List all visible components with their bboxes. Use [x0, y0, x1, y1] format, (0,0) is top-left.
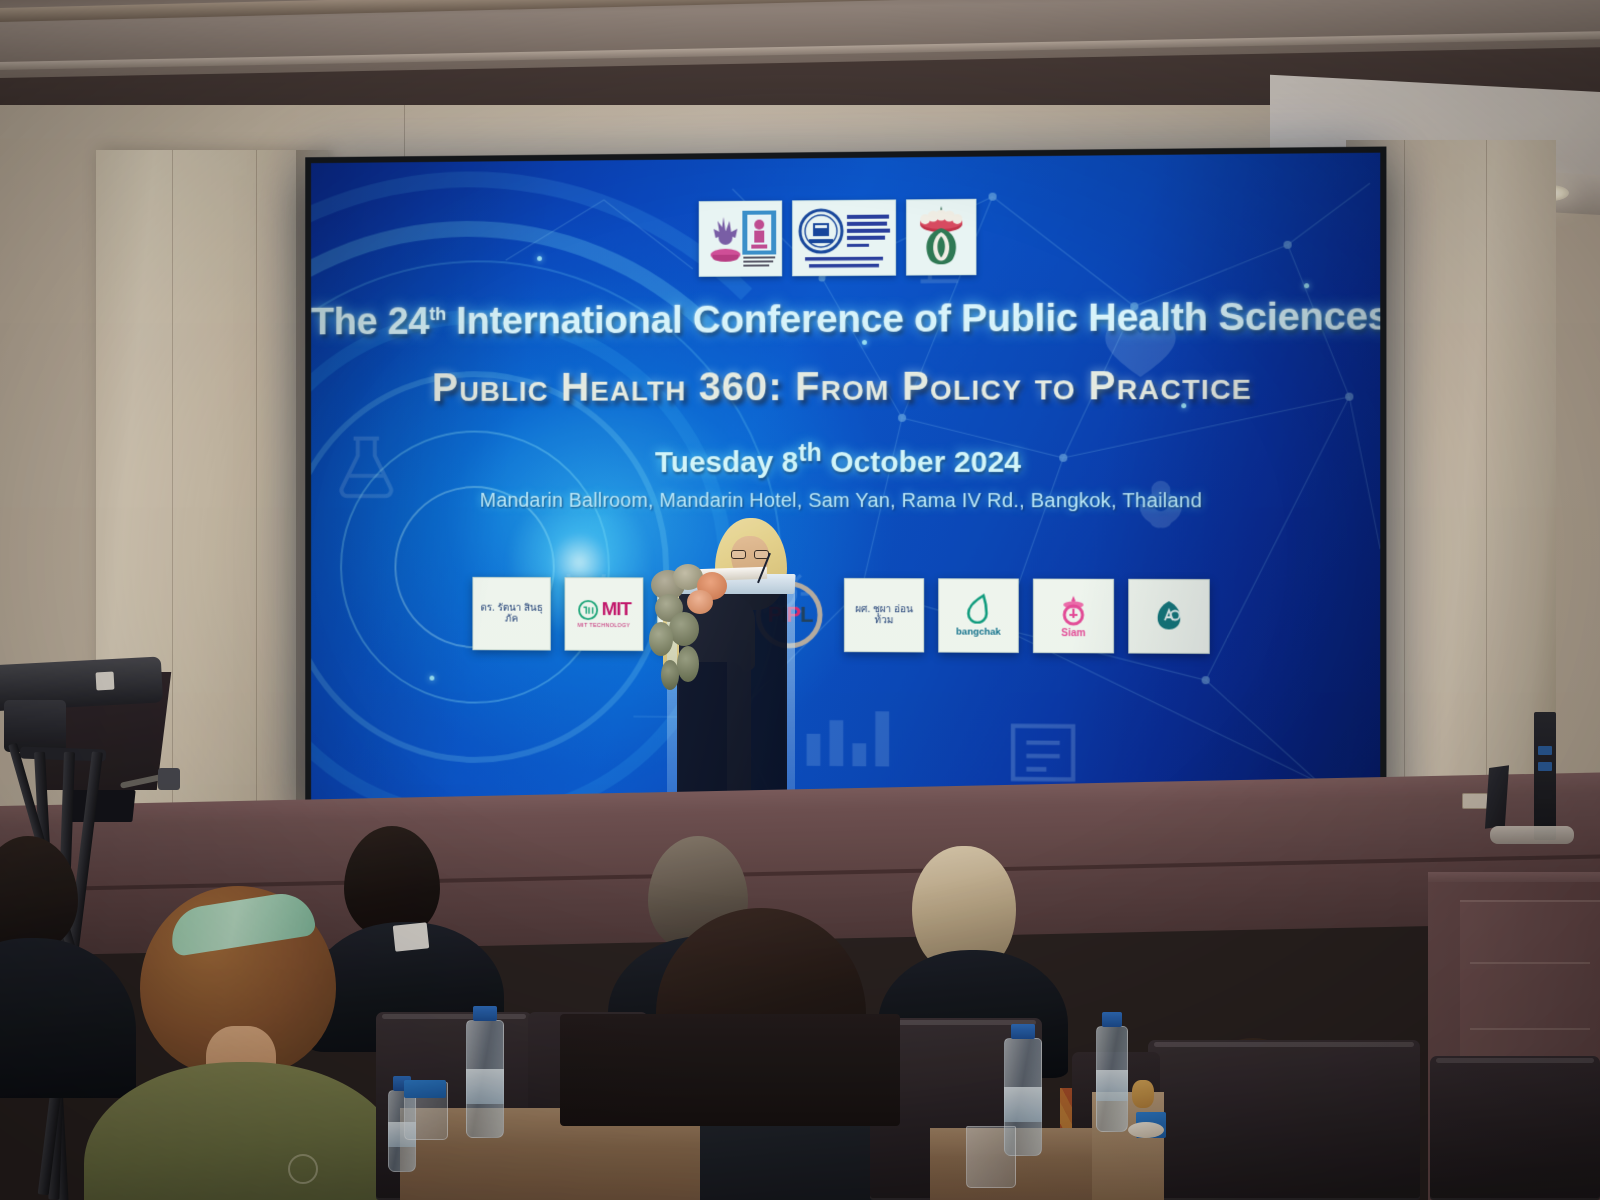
sponsor-thai-donor: ผศ. ชุผา อ่อนท้วม	[844, 578, 924, 652]
snack-plate	[1128, 1122, 1164, 1138]
monitor-mount-plate	[158, 768, 180, 790]
speaker-glasses-icon	[731, 550, 769, 559]
sponsor-bangchak: bangchak	[938, 578, 1019, 653]
slide-date-rest: October 2024	[822, 446, 1021, 479]
sponsor-mit-sub: MIT TECHNOLOGY	[578, 623, 631, 629]
sponsor-siam-crown-icon	[1058, 593, 1088, 625]
table-shadow-area	[560, 1014, 900, 1126]
sponsor-siam: Siam	[1033, 579, 1114, 654]
conference-chair	[1430, 1056, 1600, 1200]
cable-bundle	[1490, 826, 1574, 844]
conference-chair	[1148, 1040, 1420, 1200]
host-crest-strip	[699, 199, 977, 277]
water-bottle	[466, 1006, 504, 1138]
floral-arrangement	[647, 564, 749, 692]
sponsor-ac-foundation	[1128, 579, 1210, 654]
document-icon	[1003, 719, 1084, 786]
crest-chulalongkorn-public-health-glyph	[702, 204, 779, 272]
crest-chulalongkorn-public-health	[699, 200, 782, 276]
attendee-top-emblem	[288, 1154, 318, 1184]
crest-university-seal-glyph	[795, 203, 893, 274]
slide-title: The 24th International Conference of Pub…	[311, 295, 1380, 344]
crest-royal-emblem	[906, 199, 976, 276]
camera-field-monitor	[64, 790, 135, 822]
sponsor-dr-ratana: ดร. รัตนา สินธุภัค	[472, 577, 550, 651]
led-screen: The 24th International Conference of Pub…	[305, 147, 1386, 818]
conference-hall-photo: The 24th International Conference of Pub…	[0, 0, 1600, 1200]
water-bottle	[1096, 1012, 1128, 1132]
camera-badge-icon	[96, 672, 115, 691]
attendee-olive-top	[84, 1062, 402, 1200]
av-control-rack	[1534, 712, 1556, 840]
crest-university-seal	[792, 199, 896, 276]
attendee-far-left	[0, 836, 124, 1076]
wall-power-socket-icon	[1462, 793, 1488, 809]
sponsor-mit: MIT MIT TECHNOLOGY	[565, 577, 644, 651]
sponsor-thai-donor-label: ผศ. ชุผา อ่อนท้วม	[845, 604, 923, 627]
sponsor-mit-label: MIT	[602, 599, 631, 621]
napkin-box	[404, 1080, 446, 1098]
sponsor-bangchak-label: bangchak	[956, 627, 1001, 638]
slide-title-superscript: th	[429, 303, 446, 324]
snack-item	[1132, 1080, 1154, 1108]
slide-title-prefix: The 24	[311, 300, 429, 343]
crest-royal-emblem-glyph	[909, 202, 973, 273]
slide-venue: Mandarin Ballroom, Mandarin Hotel, Sam Y…	[311, 490, 1380, 514]
slide-subtitle: Public Health 360: From Policy to Practi…	[311, 363, 1380, 411]
slide-date: Tuesday 8th October 2024	[311, 438, 1380, 480]
sponsor-ac-foundation-mark-icon	[1152, 598, 1187, 632]
drinking-glass	[966, 1126, 1016, 1188]
led-screen-display: The 24th International Conference of Pub…	[311, 153, 1380, 812]
slide-date-superscript: th	[798, 439, 822, 467]
sponsor-dr-ratana-label: ดร. รัตนา สินธุภัค	[473, 602, 549, 625]
slide-title-rest: International Conference of Public Healt…	[446, 295, 1380, 343]
podium-and-speaker	[655, 512, 845, 822]
sponsor-siam-label: Siam	[1061, 627, 1085, 638]
slide-date-main: Tuesday 8	[655, 446, 798, 479]
sponsor-bangchak-leaf-icon	[965, 593, 991, 623]
sponsor-mit-mark-icon	[577, 599, 599, 621]
